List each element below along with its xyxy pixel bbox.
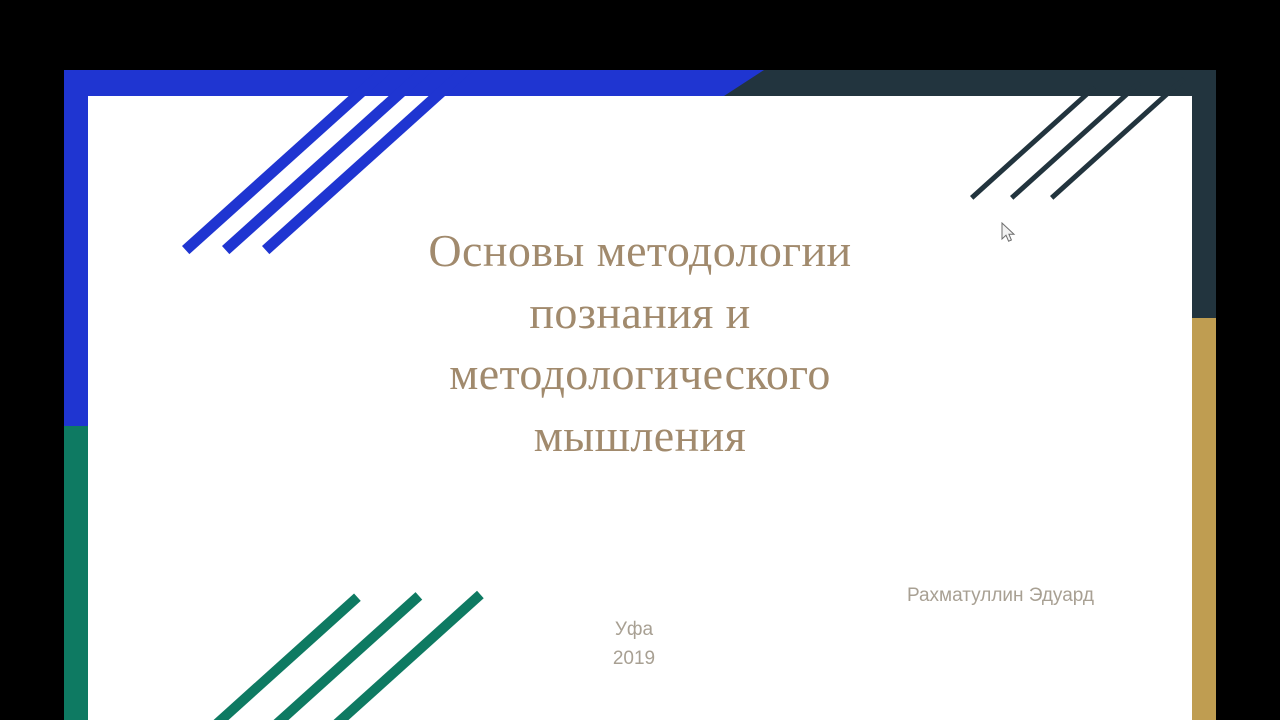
frame-band-blue-wedge <box>704 70 824 96</box>
stripe <box>258 592 422 720</box>
stripe <box>988 691 1070 720</box>
slide-place-year: Уфа 2019 <box>544 615 724 674</box>
stripe <box>1010 81 1141 200</box>
frame-band-teal <box>64 426 604 720</box>
slide-author: Рахматуллин Эдуард <box>664 585 1094 607</box>
stripe <box>1030 691 1112 720</box>
presentation-slide[interactable]: Основы методологии познания и методологи… <box>64 70 1216 720</box>
diagonal-stripes-top-right-icon <box>964 70 1216 210</box>
slide-title: Основы методологии познания и методологи… <box>184 220 1096 467</box>
diagonal-stripes-bottom-left-icon <box>184 568 564 720</box>
stripe <box>970 86 1096 200</box>
slide-year: 2019 <box>544 644 724 673</box>
stripe <box>1050 77 1186 200</box>
diagonal-stripes-bottom-right-icon <box>894 670 1216 720</box>
stripe <box>946 691 1028 720</box>
video-letterbox-viewport: Основы методологии познания и методологи… <box>0 0 1280 720</box>
stripe <box>318 591 484 720</box>
stripe <box>904 691 986 720</box>
slide-place: Уфа <box>544 615 724 644</box>
stripe <box>198 593 361 720</box>
